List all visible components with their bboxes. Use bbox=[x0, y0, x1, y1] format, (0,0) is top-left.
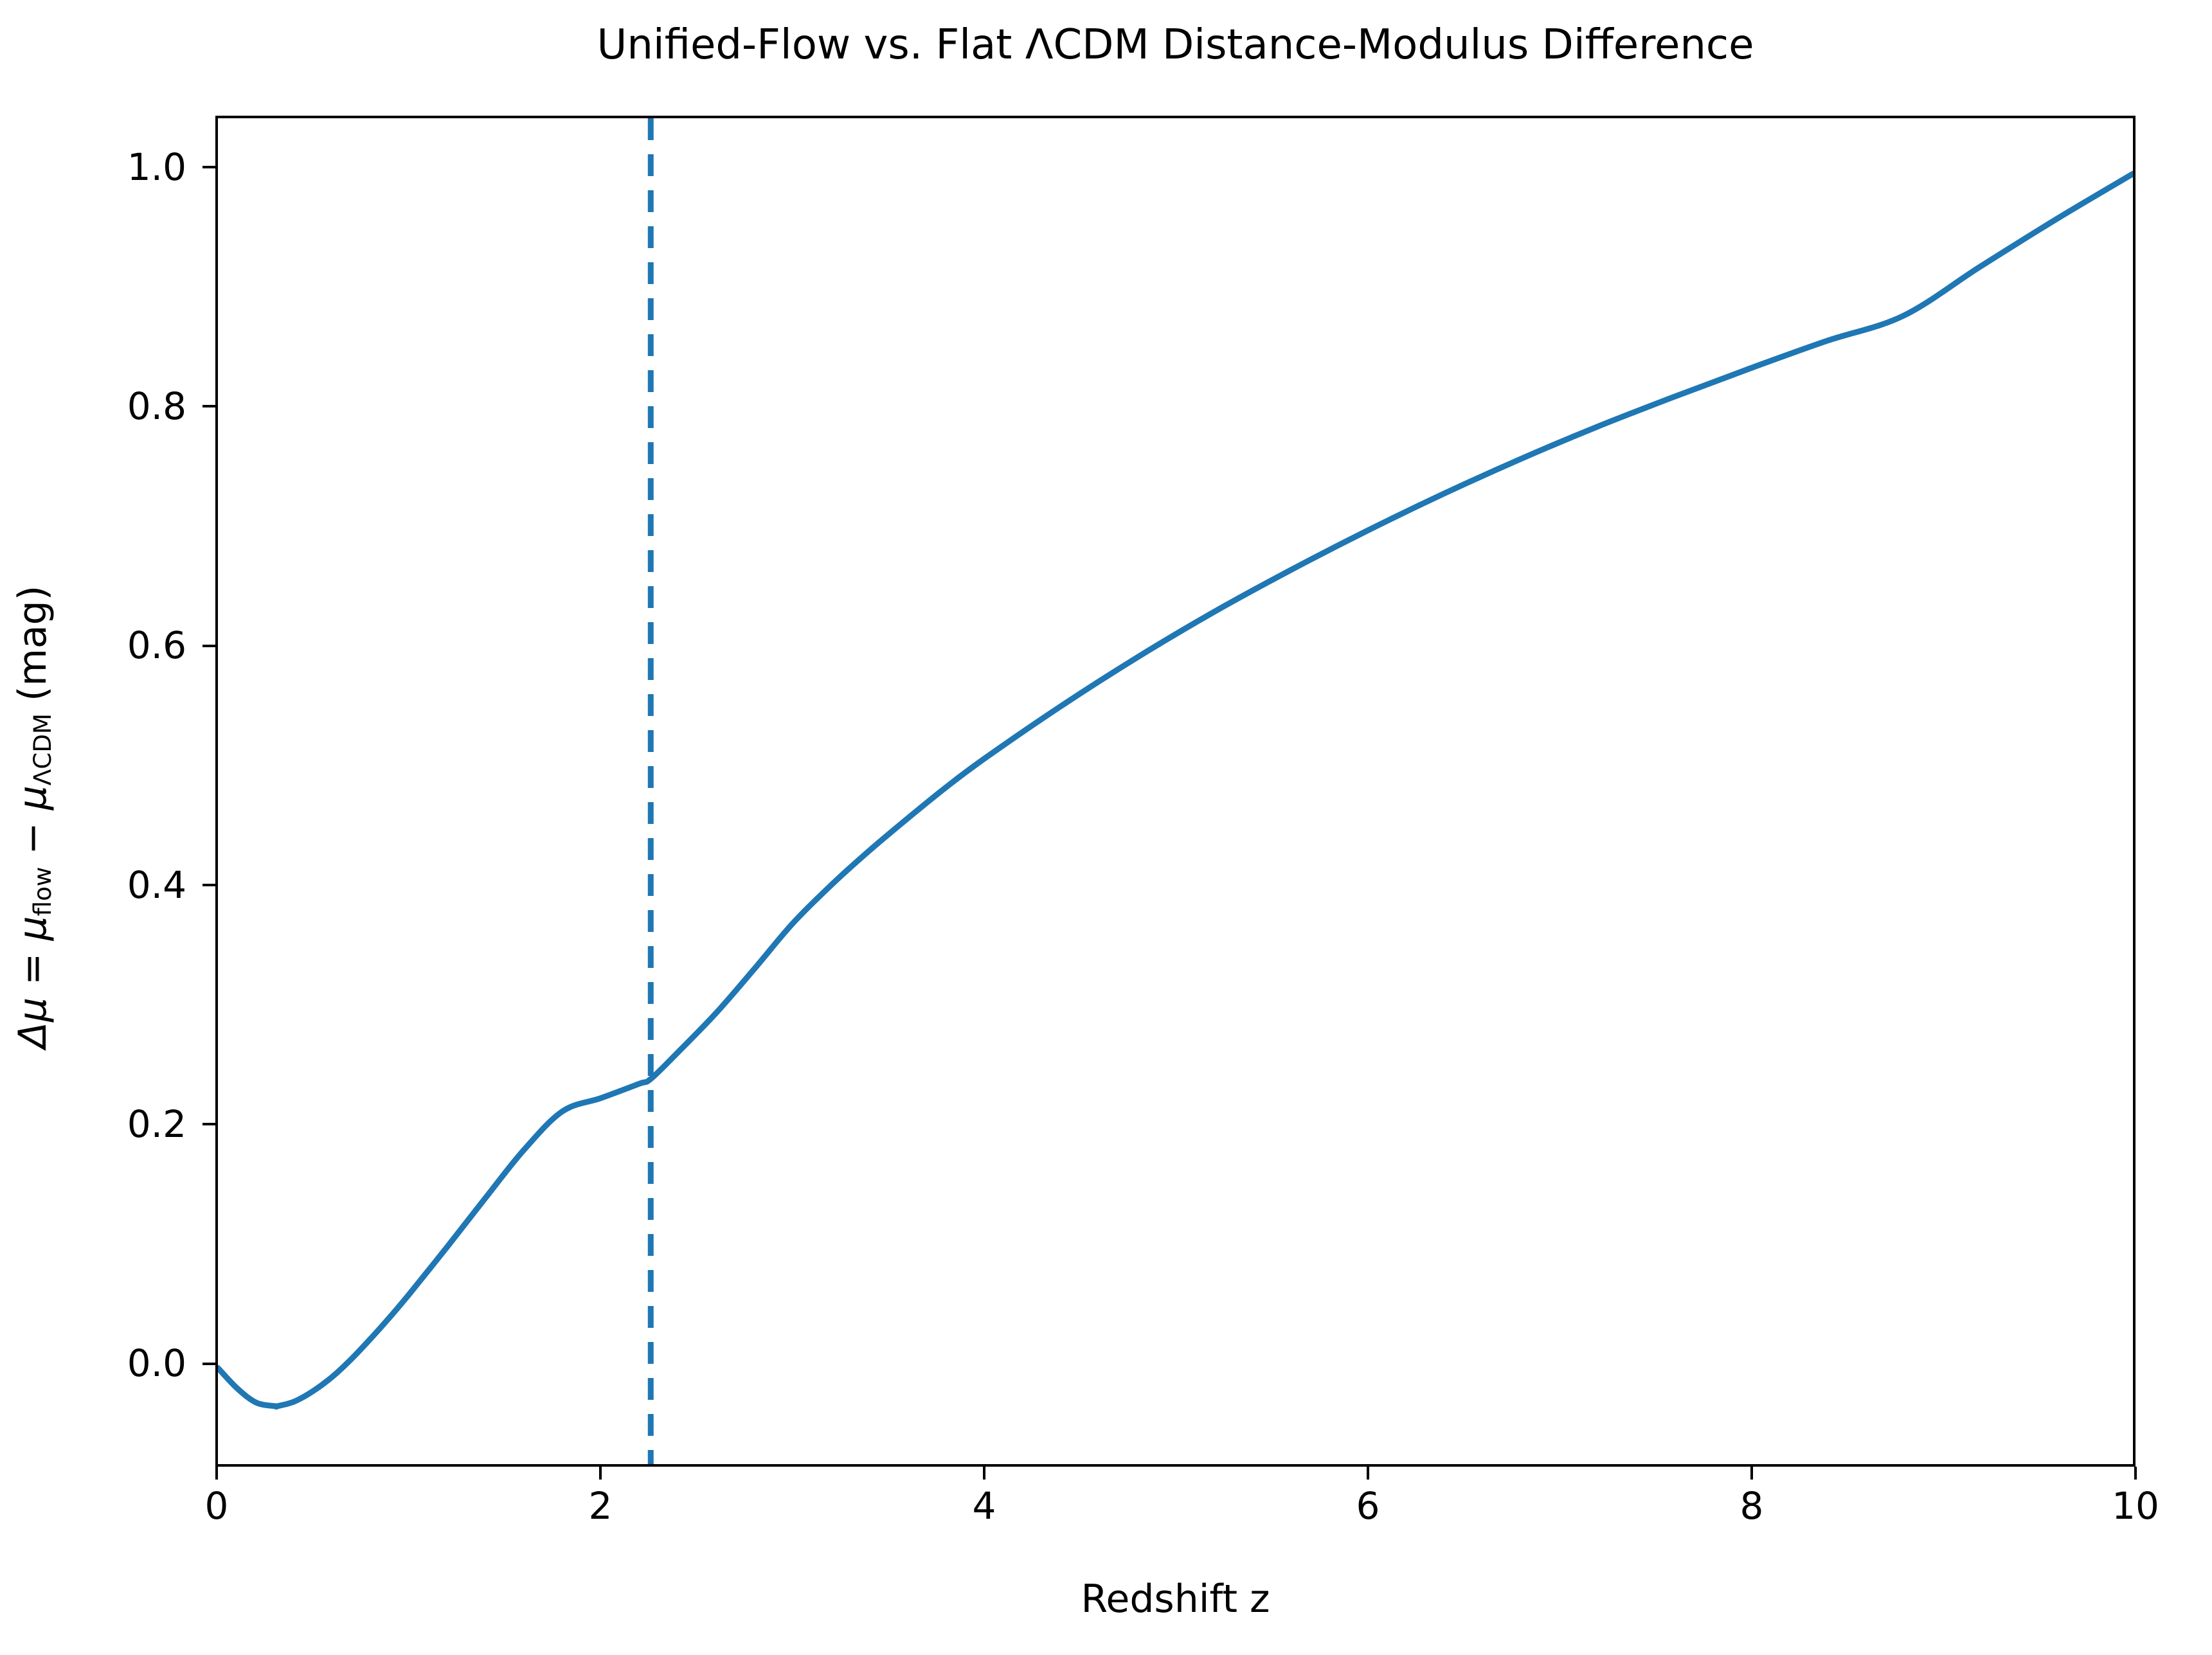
xtick-mark-6 bbox=[1367, 1467, 1369, 1480]
y-label-delta-mu: Δμ bbox=[10, 997, 55, 1048]
xtick-label-0: 0 bbox=[152, 1487, 281, 1525]
y-axis-label-container: Δμ = μflow − μΛCDM (mag) bbox=[7, 141, 58, 1492]
xtick-mark-10 bbox=[2134, 1467, 2137, 1480]
ytick-mark-0p8 bbox=[202, 405, 215, 407]
xtick-label-6: 6 bbox=[1304, 1487, 1432, 1525]
ytick-label-0p0: 0.0 bbox=[0, 1345, 186, 1382]
figure-canvas: Unified-Flow vs. Flat ΛCDM Distance-Modu… bbox=[0, 0, 2212, 1655]
y-label-equals: = bbox=[10, 941, 55, 997]
plot-area bbox=[215, 116, 2136, 1467]
xtick-mark-8 bbox=[1750, 1467, 1753, 1480]
xtick-mark-2 bbox=[599, 1467, 602, 1480]
y-axis-label: Δμ = μflow − μΛCDM (mag) bbox=[7, 141, 68, 1492]
x-axis-label: Redshift z bbox=[215, 1580, 2136, 1618]
y-label-mu-flow: μ bbox=[10, 916, 55, 940]
xtick-label-2: 2 bbox=[536, 1487, 665, 1525]
plot-svg bbox=[218, 118, 2133, 1464]
ytick-mark-0p6 bbox=[202, 645, 215, 647]
ytick-label-0p6: 0.6 bbox=[0, 627, 186, 664]
ytick-label-0p8: 0.8 bbox=[0, 388, 186, 425]
y-label-minus: − bbox=[10, 810, 55, 866]
ytick-mark-1p0 bbox=[202, 166, 215, 168]
chart-title: Unified-Flow vs. Flat ΛCDM Distance-Modu… bbox=[215, 24, 2136, 66]
ytick-mark-0p4 bbox=[202, 884, 215, 886]
xtick-mark-0 bbox=[215, 1467, 218, 1480]
xtick-label-10: 10 bbox=[2071, 1487, 2200, 1525]
delta-mu-curve bbox=[218, 174, 2133, 1406]
ytick-mark-0p0 bbox=[202, 1363, 215, 1365]
ytick-mark-0p2 bbox=[202, 1123, 215, 1125]
y-label-sub-lcdm: ΛCDM bbox=[28, 713, 57, 785]
xtick-label-8: 8 bbox=[1687, 1487, 1816, 1525]
y-label-mu-lcdm: μ bbox=[10, 785, 55, 810]
ytick-label-0p2: 0.2 bbox=[0, 1105, 186, 1143]
ytick-label-1p0: 1.0 bbox=[0, 148, 186, 186]
xtick-mark-4 bbox=[983, 1467, 985, 1480]
xtick-label-4: 4 bbox=[920, 1487, 1048, 1525]
ytick-label-0p4: 0.4 bbox=[0, 866, 186, 904]
